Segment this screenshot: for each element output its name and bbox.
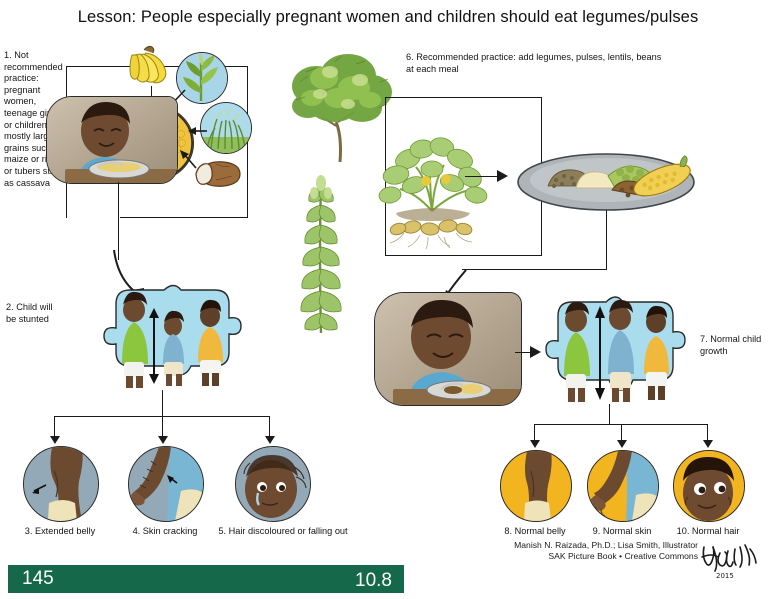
plate-to-child-line bbox=[462, 269, 607, 270]
step6-box-top-line bbox=[385, 97, 542, 98]
outcomes-stem-line bbox=[609, 404, 610, 425]
normal-children-growth-icon bbox=[540, 288, 692, 406]
rice-to-bowl-arrow bbox=[186, 124, 208, 138]
child-eating-legumes-icon bbox=[374, 292, 522, 406]
symptom-3-label: 3. Extended belly bbox=[8, 526, 112, 538]
plants-to-plate-line bbox=[465, 176, 500, 177]
credits-line-1: Manish N. Raizada, Ph.D.; Lisa Smith, Il… bbox=[436, 540, 698, 551]
step6-box-bottom-line bbox=[385, 255, 542, 256]
credits: Manish N. Raizada, Ph.D.; Lisa Smith, Il… bbox=[436, 540, 698, 562]
cassava-to-bowl-arrow bbox=[176, 148, 198, 170]
stunted-children-growth-icon bbox=[98, 278, 248, 390]
section-number: 10.8 bbox=[355, 567, 392, 595]
signature-year: 2015 bbox=[716, 572, 734, 580]
plants-to-plate-arrow bbox=[497, 170, 508, 182]
outcome-9-arrow bbox=[617, 440, 627, 448]
symptom-4-label: 4. Skin cracking bbox=[114, 526, 216, 538]
banana-bunch-icon bbox=[124, 44, 176, 88]
normal-belly-icon bbox=[500, 450, 572, 522]
symptom-5-arrow bbox=[265, 436, 275, 444]
symptom-5-label: 5. Hair discoloured or falling out bbox=[212, 526, 354, 538]
step-6-caption: 6. Recommended practice: add legumes, pu… bbox=[406, 52, 670, 75]
outcome-8-arrow bbox=[530, 440, 540, 448]
symptom-3-drop-line bbox=[54, 416, 55, 438]
outcome-10-arrow bbox=[703, 440, 713, 448]
step-7-caption: 7. Normal child growth bbox=[700, 334, 772, 357]
skin-cracking-icon bbox=[128, 446, 204, 522]
climbing-bean-plant-icon bbox=[290, 175, 352, 335]
page-title: Lesson: People especially pregnant women… bbox=[0, 8, 776, 27]
hair-loss-icon bbox=[235, 446, 311, 522]
footer-bar: 145 10.8 bbox=[8, 565, 404, 593]
illustrator-signature: 2015 bbox=[700, 541, 760, 581]
outcome-8-label: 8. Normal belly bbox=[487, 526, 583, 538]
symptom-4-drop-line bbox=[162, 416, 163, 438]
step1-to-step2-line bbox=[118, 182, 119, 260]
groundnut-plant-icon bbox=[368, 125, 498, 250]
outcome-9-label: 9. Normal skin bbox=[574, 526, 670, 538]
symptom-4-arrow bbox=[158, 436, 168, 444]
symptom-5-drop-line bbox=[269, 416, 270, 438]
credits-line-2: SAK Picture Book • Creative Commons bbox=[436, 551, 698, 562]
step1-box-bottom-line bbox=[120, 217, 248, 218]
symptoms-stem-line bbox=[162, 390, 163, 417]
page-number: 145 bbox=[22, 565, 54, 593]
step-2-caption: 2. Child will be stunted bbox=[6, 302, 62, 325]
plate-down-line bbox=[606, 210, 607, 270]
normal-skin-icon bbox=[587, 450, 659, 522]
balanced-meal-plate-icon bbox=[516, 146, 696, 212]
child-eating-grains-icon bbox=[46, 96, 178, 184]
extended-belly-icon bbox=[23, 446, 99, 522]
normal-hair-icon bbox=[673, 450, 745, 522]
symptom-3-arrow bbox=[50, 436, 60, 444]
outcome-10-label: 10. Normal hair bbox=[660, 526, 756, 538]
